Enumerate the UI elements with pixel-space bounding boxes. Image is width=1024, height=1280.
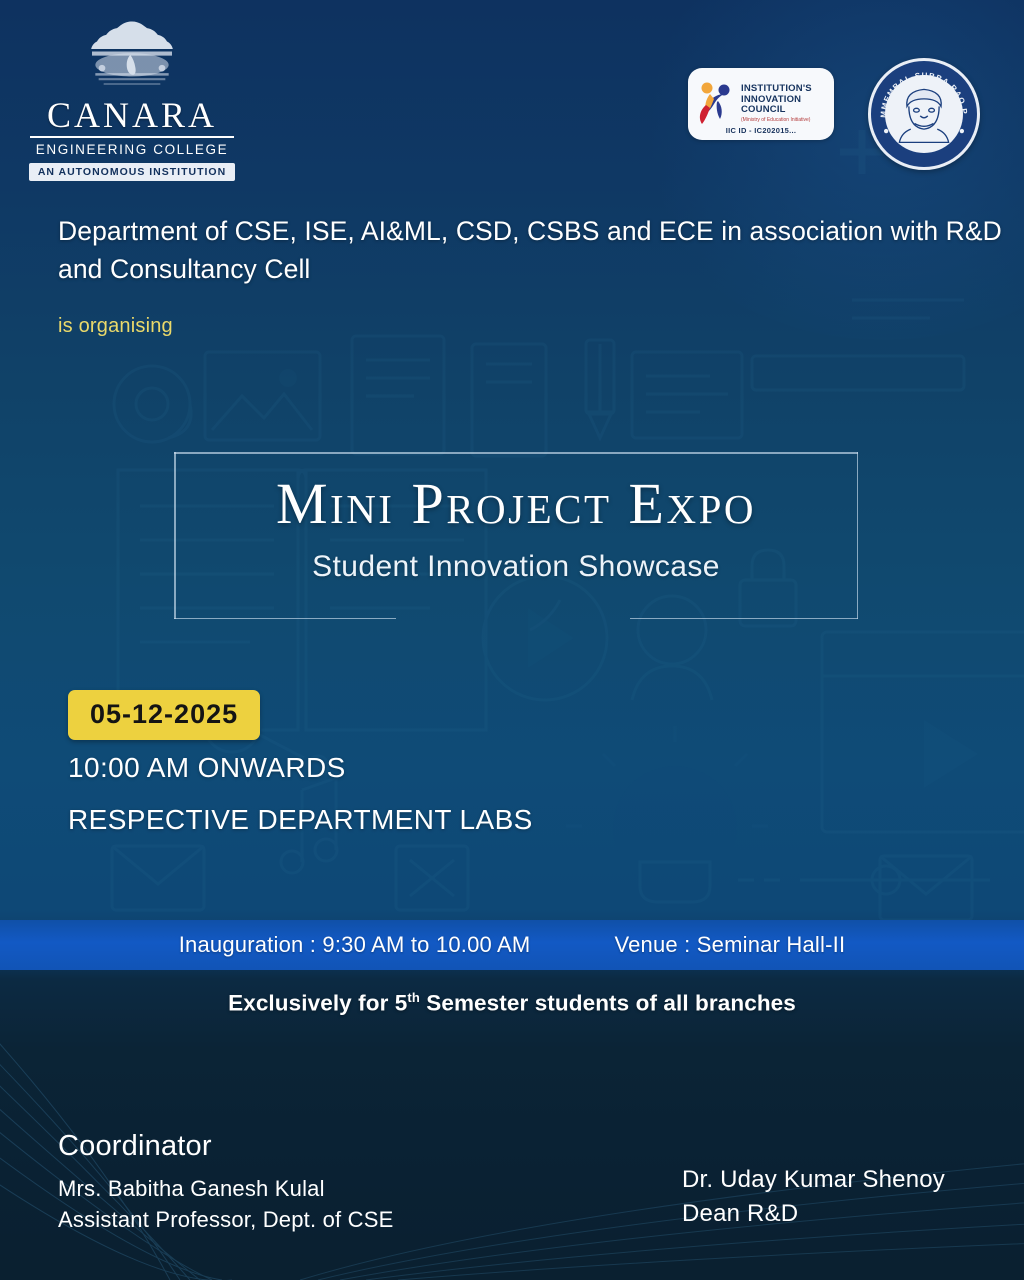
venue-text: Venue : Seminar Hall-II xyxy=(614,932,845,958)
event-date-badge: 05-12-2025 xyxy=(68,690,260,740)
canara-college-logo: CANARA ENGINEERING COLLEGE AN AUTONOMOUS… xyxy=(22,18,242,181)
event-subtitle: Student Innovation Showcase xyxy=(174,550,858,584)
iic-text-block: INSTITUTION'S INNOVATION COUNCIL (Minist… xyxy=(741,84,812,124)
event-title-frame: Mini Project Expo Student Innovation Sho… xyxy=(174,452,858,619)
coordinator-label: Coordinator xyxy=(58,1130,212,1163)
iic-line-3: COUNCIL xyxy=(741,105,812,116)
coordinator-role: Assistant Professor, Dept. of CSE xyxy=(58,1207,394,1233)
event-time: 10:00 AM ONWARDS xyxy=(68,752,346,784)
iic-logo: INSTITUTION'S INNOVATION COUNCIL (Minist… xyxy=(688,68,834,140)
autonomous-badge: AN AUTONOMOUS INSTITUTION xyxy=(29,163,235,181)
frame-border-bottom-right xyxy=(630,618,858,620)
poster-canvas: CANARA ENGINEERING COLLEGE AN AUTONOMOUS… xyxy=(0,0,1024,1280)
frame-border-bottom-left xyxy=(174,618,396,620)
frame-border-top xyxy=(174,452,858,454)
dean-role: Dean R&D xyxy=(682,1200,798,1228)
logo-divider xyxy=(30,136,234,138)
inauguration-text: Inauguration : 9:30 AM to 10.00 AM xyxy=(179,932,531,958)
department-line: Department of CSE, ISE, AI&ML, CSD, CSBS… xyxy=(58,212,1008,288)
iic-ministry-line: (Ministry of Education Initiative) xyxy=(741,117,812,124)
organising-label: is organising xyxy=(58,315,173,338)
svg-text:FOUNDER: FOUNDER xyxy=(899,134,948,151)
dean-name: Dr. Uday Kumar Shenoy xyxy=(682,1166,945,1194)
inauguration-banner: Inauguration : 9:30 AM to 10.00 AM Venue… xyxy=(0,920,1024,970)
college-subtitle: ENGINEERING COLLEGE xyxy=(22,142,242,157)
founder-portrait-icon: AMMEMBAL SUBBA RAO PAI FOUNDER xyxy=(871,61,977,167)
poster-header: CANARA ENGINEERING COLLEGE AN AUTONOMOUS… xyxy=(0,0,1024,180)
coordinator-name: Mrs. Babitha Ganesh Kulal xyxy=(58,1176,325,1202)
college-crest-icon xyxy=(82,18,182,90)
college-name: CANARA xyxy=(22,97,242,133)
event-title: Mini Project Expo xyxy=(174,470,858,537)
iic-mark-icon xyxy=(696,81,736,127)
founder-seal-logo: AMMEMBAL SUBBA RAO PAI FOUNDER xyxy=(868,58,980,170)
event-location: RESPECTIVE DEPARTMENT LABS xyxy=(68,804,533,836)
iic-id-label: IIC ID - IC202015... xyxy=(688,126,834,135)
